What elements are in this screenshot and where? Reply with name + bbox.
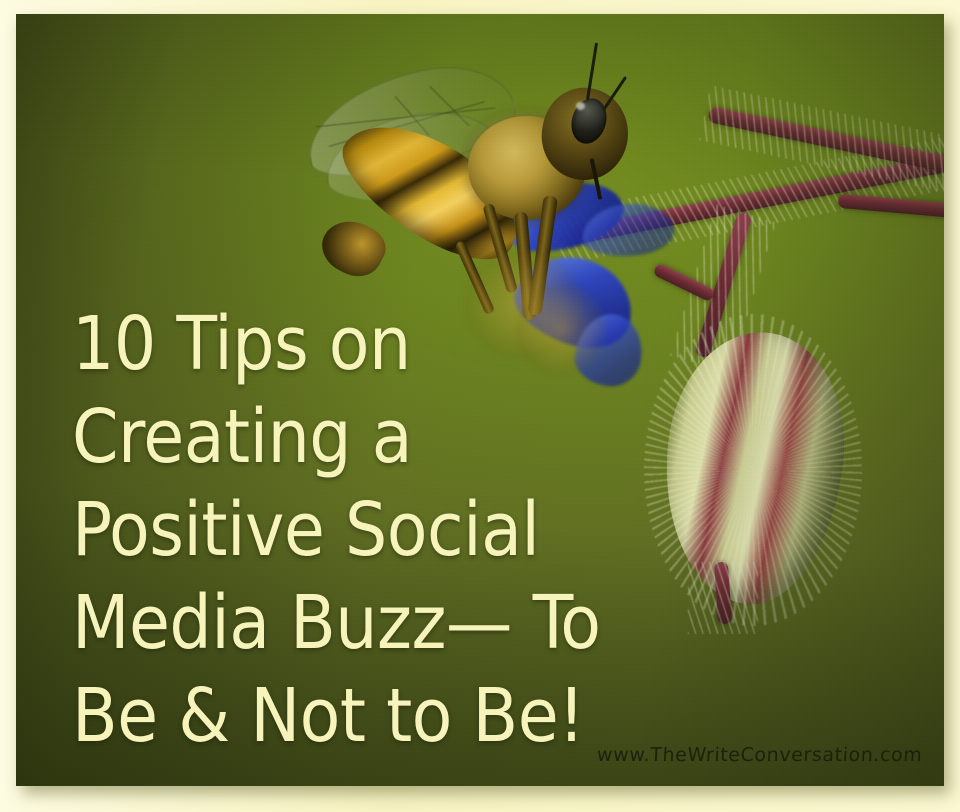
title-line-1: 10 Tips on (72, 298, 712, 391)
page-title: 10 Tips on Creating a Positive Social Me… (72, 298, 712, 763)
title-line-3: Positive Social (72, 484, 712, 577)
title-line-4: Media Buzz— To (72, 577, 712, 670)
title-line-2: Creating a (72, 391, 712, 484)
photograph: 10 Tips on Creating a Positive Social Me… (16, 14, 944, 786)
title-card-graphic: 10 Tips on Creating a Positive Social Me… (0, 0, 960, 812)
site-watermark: www.TheWriteConversation.com (596, 744, 923, 766)
